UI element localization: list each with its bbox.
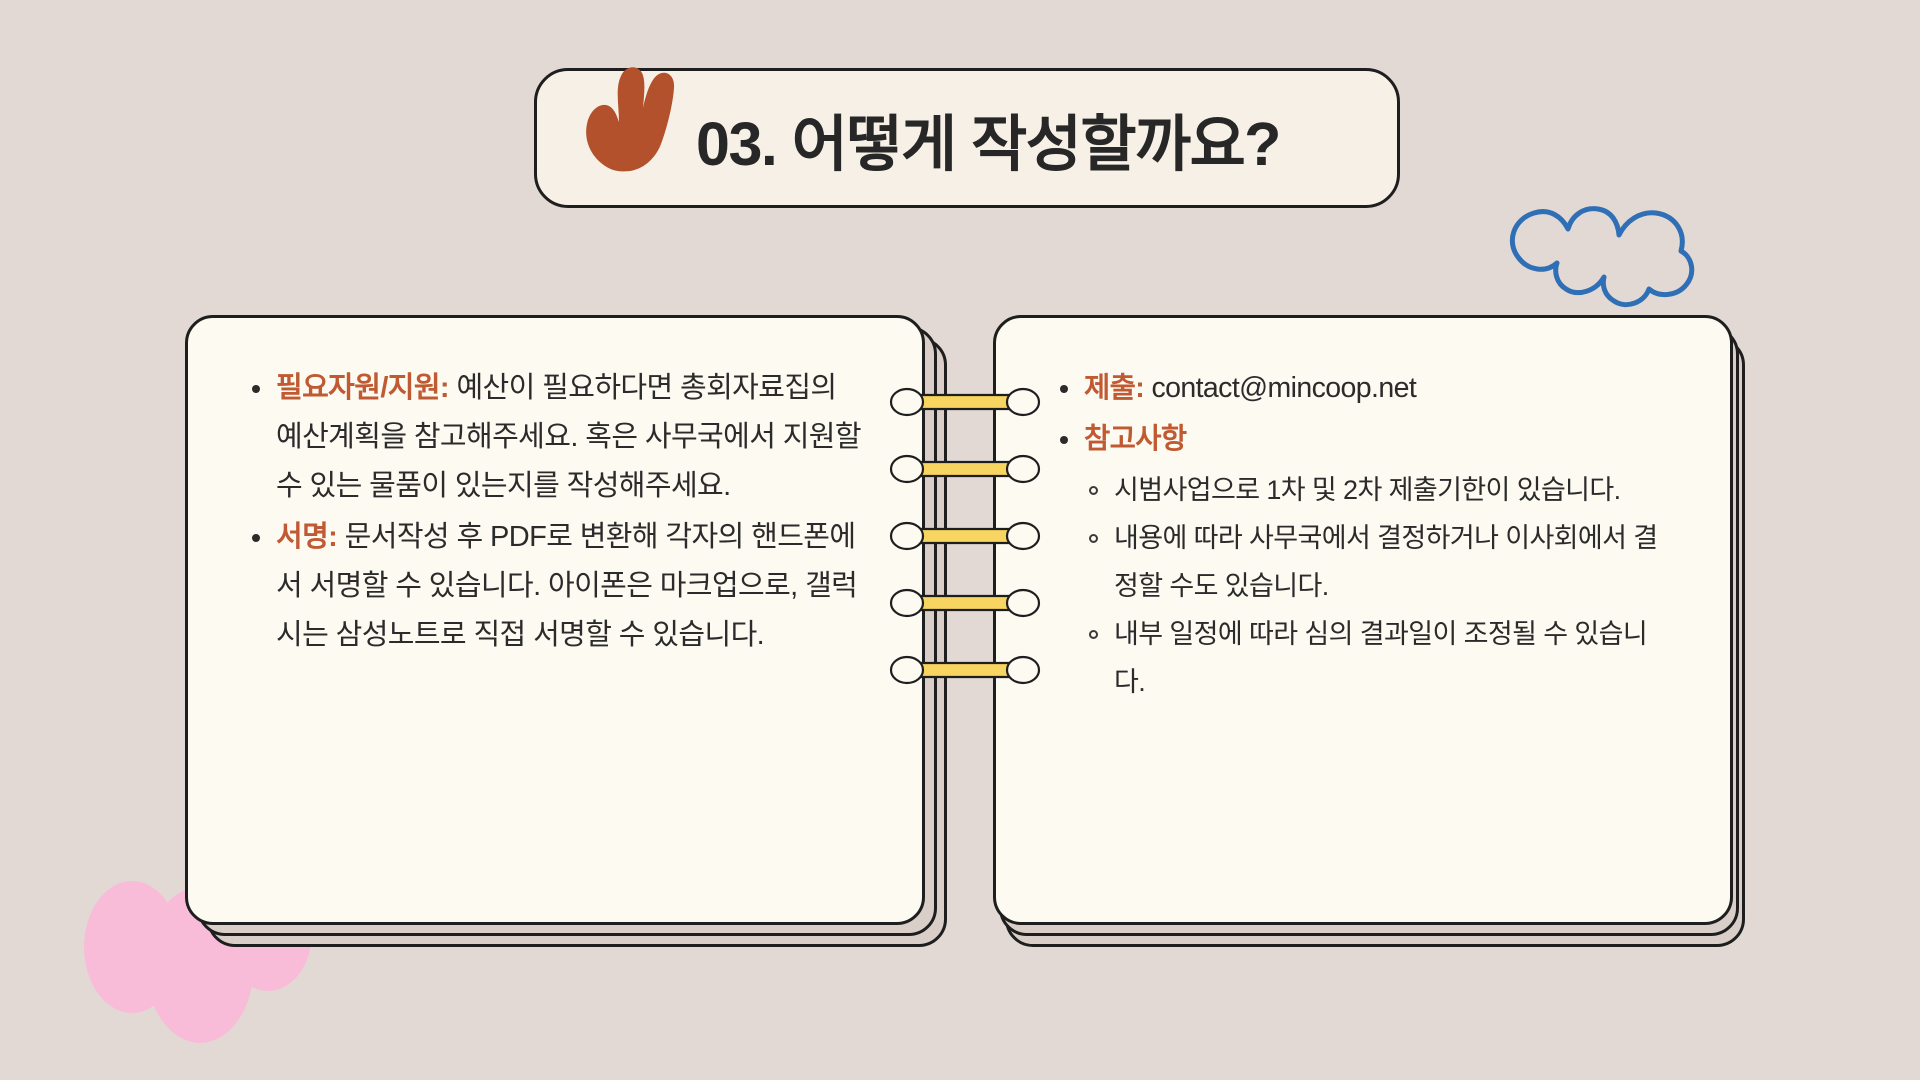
right-page: 제출: contact@mincoop.net 참고사항 시범사업으로 1차 및…: [993, 315, 1733, 925]
submit-email: contact@mincoop.net: [1144, 372, 1416, 404]
spiral-binding: [885, 367, 1045, 707]
bullet-dot-icon: [1060, 436, 1068, 444]
bullet-dot-icon: [1060, 385, 1068, 393]
left-page: 필요자원/지원: 예산이 필요하다면 총회자료집의 예산계획을 참고해주세요. …: [185, 315, 925, 925]
bullet-label: 제출:: [1084, 372, 1144, 404]
left-bullet-list: 필요자원/지원: 예산이 필요하다면 총회자료집의 예산계획을 참고해주세요. …: [246, 364, 870, 660]
bullet-label: 참고사항: [1084, 423, 1186, 455]
list-item: 제출: contact@mincoop.net: [1054, 364, 1678, 413]
sub-bullet-text: 내부 일정에 따라 심의 결과일이 조정될 수 있습니다.: [1114, 619, 1647, 697]
bullet-circle-icon: [1089, 486, 1098, 495]
bullet-dot-icon: [252, 534, 260, 542]
bullet-label: 필요자원/지원:: [276, 372, 449, 404]
title-card: 03. 어떻게 작성할까요?: [534, 68, 1400, 208]
sub-bullet-text: 내용에 따라 사무국에서 결정하거나 이사회에서 결정할 수도 있습니다.: [1114, 523, 1658, 601]
sub-list-item: 내부 일정에 따라 심의 결과일이 조정될 수 있습니다.: [1084, 610, 1678, 706]
bullet-label: 서명:: [276, 521, 337, 553]
page-title: 03. 어떻게 작성할까요?: [696, 94, 1280, 183]
bullet-text: 문서작성 후 PDF로 변환해 각자의 핸드폰에서 서명할 수 있습니다. 아이…: [276, 521, 857, 651]
list-item: 서명: 문서작성 후 PDF로 변환해 각자의 핸드폰에서 서명할 수 있습니다…: [246, 513, 870, 660]
bullet-circle-icon: [1089, 630, 1098, 639]
bullet-dot-icon: [252, 385, 260, 393]
sub-list-item: 내용에 따라 사무국에서 결정하거나 이사회에서 결정할 수도 있습니다.: [1084, 514, 1678, 610]
list-item: 필요자원/지원: 예산이 필요하다면 총회자료집의 예산계획을 참고해주세요. …: [246, 364, 870, 511]
slide-canvas: 03. 어떻게 작성할까요? 필요자원/지원: 예산이 필요하다면 총회자료집의…: [0, 0, 1920, 1080]
list-item: 참고사항 시범사업으로 1차 및 2차 제출기한이 있습니다. 내용에 따라 사…: [1054, 415, 1678, 706]
sub-list-item: 시범사업으로 1차 및 2차 제출기한이 있습니다.: [1084, 466, 1678, 514]
sub-bullet-list: 시범사업으로 1차 및 2차 제출기한이 있습니다. 내용에 따라 사무국에서 …: [1084, 466, 1678, 706]
right-bullet-list: 제출: contact@mincoop.net 참고사항 시범사업으로 1차 및…: [1054, 364, 1678, 706]
notebook: 필요자원/지원: 예산이 필요하다면 총회자료집의 예산계획을 참고해주세요. …: [185, 315, 1745, 955]
cloud-scribble-icon: [1500, 205, 1715, 315]
sub-bullet-text: 시범사업으로 1차 및 2차 제출기한이 있습니다.: [1114, 475, 1621, 505]
bullet-circle-icon: [1089, 534, 1098, 543]
